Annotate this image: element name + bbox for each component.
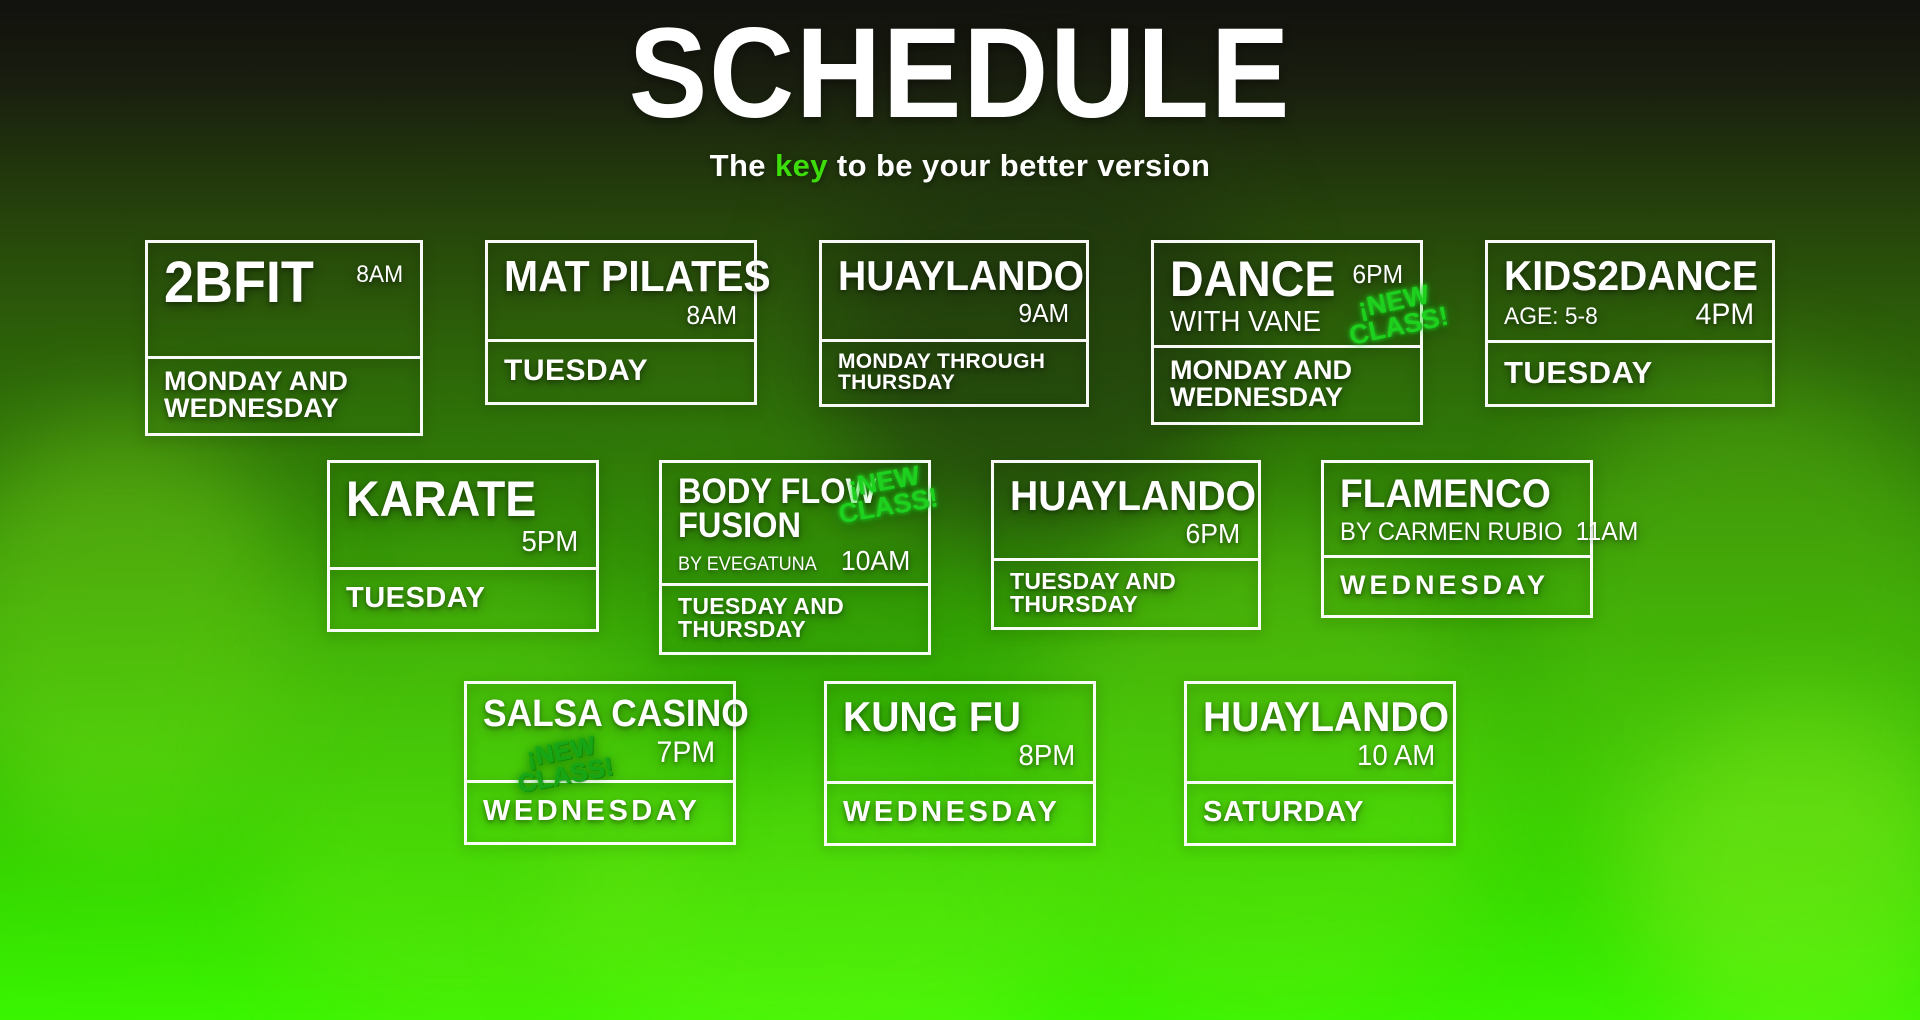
class-row-3: SALSA CASINO 7PM WEDNESDAY ¡NEW CLASS! K… <box>0 681 1920 845</box>
class-row-2: KARATE 5PM TUESDAY BODY FLOW FUSION <box>0 460 1920 656</box>
class-card-kids2dance[interactable]: KIDS2DANCE AGE: 5-8 4PM TUESDAY <box>1485 240 1775 407</box>
card-sub-line: AGE: 5-8 4PM <box>1504 298 1756 332</box>
page-subtitle: The key to be your better version <box>0 148 1920 184</box>
card-sub-line: 10 AM <box>1203 740 1437 773</box>
card-name-line: SALSA CASINO <box>483 696 717 733</box>
class-days: MONDAY THROUGH THURSDAY <box>822 342 1086 404</box>
card-sub-line: 6PM <box>1010 518 1242 550</box>
card-sub-line: 7PM <box>483 736 717 770</box>
subtitle-highlight-key: key <box>775 148 828 183</box>
class-time: 11AM <box>1576 516 1639 547</box>
class-time: 10AM <box>841 545 910 577</box>
class-name: DANCE <box>1170 255 1335 304</box>
poster-header: SCHEDULE The key to be your better versi… <box>0 0 1920 184</box>
class-time: 8PM <box>1019 740 1076 773</box>
class-card-mat-pilates[interactable]: MAT PILATES 8AM TUESDAY <box>485 240 757 405</box>
card-header: HUAYLANDO 9AM <box>822 243 1086 342</box>
class-name: SALSA CASINO <box>483 696 749 733</box>
class-name: HUAYLANDO <box>838 255 1084 296</box>
card-sub-line: BY CARMEN RUBIO 11AM <box>1340 516 1574 547</box>
class-name: KARATE <box>346 475 536 524</box>
class-card-salsa-casino[interactable]: SALSA CASINO 7PM WEDNESDAY ¡NEW CLASS! <box>464 681 736 844</box>
card-sub-line: 8PM <box>843 740 1077 773</box>
card-name-line: BODY FLOW <box>678 475 912 509</box>
class-name: MAT PILATES <box>504 255 771 298</box>
class-name: HUAYLANDO <box>1203 696 1449 737</box>
class-card-flamenco[interactable]: FLAMENCO BY CARMEN RUBIO 11AM WEDNESDAY <box>1321 460 1593 618</box>
subtitle-text-after: to be your better version <box>828 148 1210 183</box>
card-name-line: MAT PILATES <box>504 255 738 298</box>
card-name-line: 2BFIT 8AM <box>164 255 404 312</box>
class-name: KIDS2DANCE <box>1504 255 1758 296</box>
class-card-huaylando-evening[interactable]: HUAYLANDO 6PM TUESDAY AND THURSDAY <box>991 460 1261 630</box>
card-name-line: FUSION <box>678 509 912 543</box>
card-sub-line: 9AM <box>838 298 1070 329</box>
class-card-karate[interactable]: KARATE 5PM TUESDAY <box>327 460 599 632</box>
class-card-kung-fu[interactable]: KUNG FU 8PM WEDNESDAY <box>824 681 1096 845</box>
card-name-line: FLAMENCO <box>1340 475 1574 514</box>
card-sub-line: 5PM <box>346 526 580 559</box>
class-days: TUESDAY <box>1488 343 1772 404</box>
card-sub-line: WITH VANE <box>1170 306 1404 339</box>
class-card-huaylando-morning[interactable]: HUAYLANDO 9AM MONDAY THROUGH THURSDAY <box>819 240 1089 407</box>
card-name-line: HUAYLANDO <box>838 255 1070 296</box>
class-name-line-1: BODY FLOW <box>678 475 876 509</box>
class-name: KUNG FU <box>843 696 1021 737</box>
class-time: 6PM <box>1352 259 1403 290</box>
class-instructor: BY CARMEN RUBIO <box>1340 518 1563 547</box>
class-card-body-flow-fusion[interactable]: BODY FLOW FUSION BY EVEGATUNA 10AM TUESD… <box>659 460 931 656</box>
card-name-line: KIDS2DANCE <box>1504 255 1756 296</box>
class-card-huaylando-saturday[interactable]: HUAYLANDO 10 AM SATURDAY <box>1184 681 1456 845</box>
page-title: SCHEDULE <box>77 6 1843 142</box>
class-time: 10 AM <box>1357 740 1435 773</box>
class-days: TUESDAY <box>330 570 596 629</box>
card-name-line: KARATE <box>346 475 580 524</box>
class-days: TUESDAY <box>488 342 754 402</box>
class-card-2bfit[interactable]: 2BFIT 8AM MONDAY AND WEDNESDAY <box>145 240 423 436</box>
subtitle-text-before: The <box>710 148 775 183</box>
card-name-line: DANCE 6PM <box>1170 255 1404 304</box>
class-age-range: AGE: 5-8 <box>1504 303 1598 331</box>
class-instructor: BY EVEGATUNA <box>678 554 817 576</box>
card-sub-line: 8AM <box>504 300 738 331</box>
card-header: KARATE 5PM <box>330 463 596 570</box>
card-header: BODY FLOW FUSION BY EVEGATUNA 10AM <box>662 463 928 587</box>
class-grid: 2BFIT 8AM MONDAY AND WEDNESDAY MAT PILAT… <box>0 240 1920 846</box>
card-header: DANCE 6PM WITH VANE <box>1154 243 1420 348</box>
class-days: SATURDAY <box>1187 784 1453 843</box>
class-time: 7PM <box>657 736 716 770</box>
card-header: KUNG FU 8PM <box>827 684 1093 783</box>
card-header: HUAYLANDO 6PM <box>994 463 1258 561</box>
card-header: FLAMENCO BY CARMEN RUBIO 11AM <box>1324 463 1590 558</box>
schedule-poster: SCHEDULE The key to be your better versi… <box>0 0 1920 1020</box>
card-header: HUAYLANDO 10 AM <box>1187 684 1453 783</box>
class-time: 4PM <box>1696 298 1755 332</box>
card-sub-line: BY EVEGATUNA 10AM <box>678 545 912 577</box>
card-header: KIDS2DANCE AGE: 5-8 4PM <box>1488 243 1772 343</box>
card-header: SALSA CASINO 7PM <box>467 684 733 782</box>
class-name: 2BFIT <box>164 255 314 312</box>
class-days: TUESDAY AND THURSDAY <box>662 586 928 652</box>
class-days: TUESDAY AND THURSDAY <box>994 561 1258 627</box>
class-name-line-2: FUSION <box>678 509 801 543</box>
class-time: 9AM <box>1018 298 1069 329</box>
card-name-line: HUAYLANDO <box>1010 475 1242 516</box>
class-days: MONDAY AND WEDNESDAY <box>1154 348 1420 422</box>
class-days: WEDNESDAY <box>467 783 733 842</box>
class-time: 8AM <box>686 300 737 331</box>
card-name-line: HUAYLANDO <box>1203 696 1437 737</box>
class-days: WEDNESDAY <box>827 784 1093 843</box>
class-time: 8AM <box>356 261 403 289</box>
class-days: WEDNESDAY <box>1324 558 1590 615</box>
class-time: 6PM <box>1186 518 1241 550</box>
class-name: FLAMENCO <box>1340 475 1551 514</box>
card-name-line: KUNG FU <box>843 696 1077 737</box>
class-name: HUAYLANDO <box>1010 475 1256 516</box>
card-header: 2BFIT 8AM <box>148 243 420 359</box>
class-card-dance[interactable]: DANCE 6PM WITH VANE MONDAY AND WEDNESDAY… <box>1151 240 1423 425</box>
class-instructor: WITH VANE <box>1170 306 1321 339</box>
class-days: MONDAY AND WEDNESDAY <box>148 359 420 433</box>
card-header: MAT PILATES 8AM <box>488 243 754 342</box>
class-time: 5PM <box>522 526 579 559</box>
class-row-1: 2BFIT 8AM MONDAY AND WEDNESDAY MAT PILAT… <box>0 240 1920 436</box>
